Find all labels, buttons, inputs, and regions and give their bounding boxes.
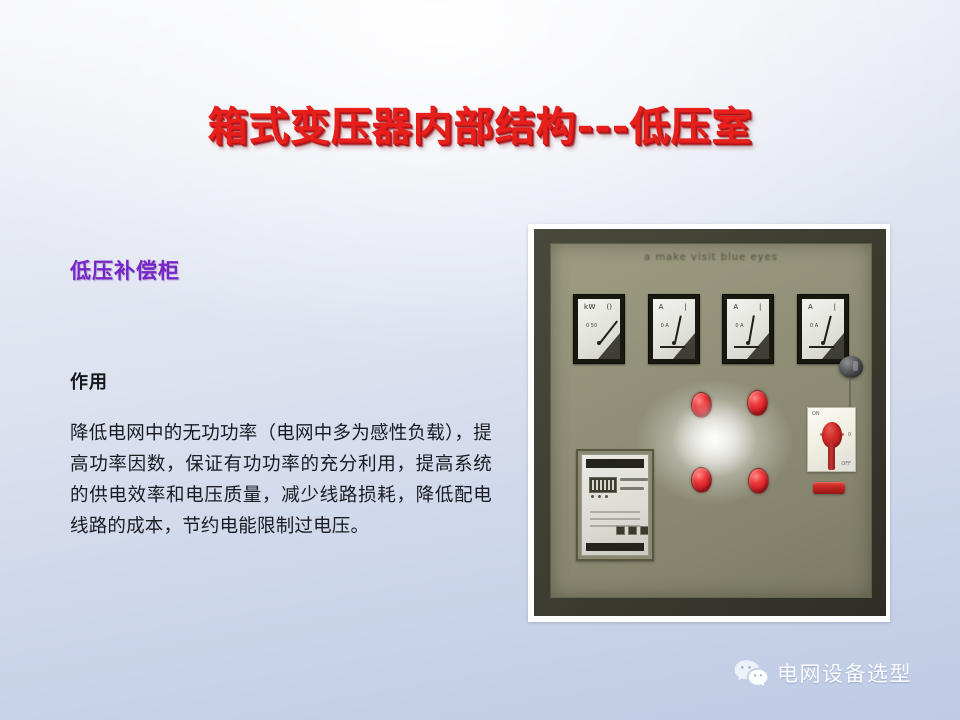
door-lock-shaft	[849, 377, 851, 407]
wechat-icon	[733, 658, 769, 688]
meter-glass-shadow	[598, 333, 620, 359]
controller-divider	[590, 511, 640, 513]
meter-scale-label: 0 A	[735, 323, 743, 329]
meter-symbol-secondary: ()	[607, 303, 612, 311]
analog-meter: A | 0 A	[797, 294, 849, 364]
rotary-mark-on: ON	[812, 411, 820, 417]
controller-button[interactable]	[616, 526, 625, 535]
title-container: 箱式变压器内部结构---低压室	[0, 94, 960, 152]
meter-symbol: A	[808, 303, 813, 311]
red-push-button	[813, 482, 845, 494]
analog-meter: kW () 0 50	[573, 294, 625, 364]
meter-symbol: A	[659, 303, 664, 311]
analog-meter: A | 0 A	[722, 294, 774, 364]
controller-text-line	[620, 487, 644, 490]
indicator-lamp-c	[691, 467, 712, 493]
controller-button[interactable]	[640, 526, 649, 535]
door-specular-highlight	[673, 399, 756, 477]
controller-digital-display	[589, 477, 617, 493]
meter-row: kW () 0 50 A |	[573, 294, 849, 364]
controller-button[interactable]	[628, 526, 637, 535]
controller-header-bar	[586, 459, 644, 468]
meter-face: kW () 0 50	[578, 299, 620, 359]
indicator-lamp-b	[747, 390, 768, 416]
meter-symbol: kW	[584, 303, 596, 311]
indicator-lamp-d	[748, 468, 769, 494]
rotary-switch-plate: ON 0 OFF	[807, 407, 856, 472]
controller-indicator-dots	[591, 495, 608, 498]
controller-button-group[interactable]	[616, 526, 649, 535]
meter-symbol-secondary: |	[684, 303, 686, 311]
controller-dot	[605, 495, 608, 498]
meter-symbol-secondary: |	[834, 303, 836, 311]
meter-symbol-secondary: |	[759, 303, 761, 311]
meter-face: A | 0 A	[727, 299, 769, 359]
role-label: 作用	[70, 368, 108, 394]
text-column: 低压补偿柜 作用 降低电网中的无功功率（电网中多为感性负载），提高功率因数，保证…	[70, 255, 490, 285]
meter-face: A | 0 A	[802, 299, 844, 359]
subheading: 低压补偿柜	[70, 255, 490, 285]
cabinet-outer-frame: a make visit blue eyes kW () 0 50	[534, 229, 886, 616]
meter-glass-shadow	[673, 333, 695, 359]
photo-watermark-text: a make visit blue eyes	[551, 252, 871, 263]
slide-canvas: 箱式变压器内部结构---低压室 低压补偿柜 作用 降低电网中的无功功率（电网中多…	[0, 0, 960, 720]
meter-symbol: A	[733, 303, 738, 311]
meter-glass-shadow	[822, 333, 844, 359]
meter-face: A | 0 A	[653, 299, 695, 359]
controller-faceplate	[581, 454, 649, 556]
controller-panel	[576, 449, 654, 561]
door-lock-knob	[839, 356, 863, 378]
rotary-switch-stem	[828, 444, 835, 470]
photo-inner-frame: a make visit blue eyes kW () 0 50	[534, 229, 886, 616]
meter-glass-shadow	[747, 333, 769, 359]
watermark-label: 电网设备选型	[777, 658, 912, 688]
controller-dot	[591, 495, 594, 498]
meter-scale-label: 0 50	[586, 323, 597, 329]
watermark: 电网设备选型	[733, 658, 912, 688]
controller-footer-bar	[586, 543, 644, 551]
meter-scale-label: 0 A	[810, 323, 818, 329]
cabinet-door-panel: a make visit blue eyes kW () 0 50	[550, 243, 872, 598]
controller-text-line	[620, 478, 648, 481]
analog-meter: A | 0 A	[648, 294, 700, 364]
rotary-mark-off: OFF	[841, 461, 851, 467]
rotary-mark-zero: 0	[848, 432, 851, 438]
indicator-lamp-a	[691, 392, 712, 418]
page-title: 箱式变压器内部结构---低压室	[208, 94, 753, 152]
controller-dot	[598, 495, 601, 498]
body-paragraph: 降低电网中的无功功率（电网中多为感性负载），提高功率因数，保证有功功率的充分利用…	[70, 418, 492, 542]
controller-divider	[590, 518, 640, 520]
cabinet-photo: a make visit blue eyes kW () 0 50	[528, 224, 890, 622]
meter-scale-label: 0 A	[661, 323, 669, 329]
